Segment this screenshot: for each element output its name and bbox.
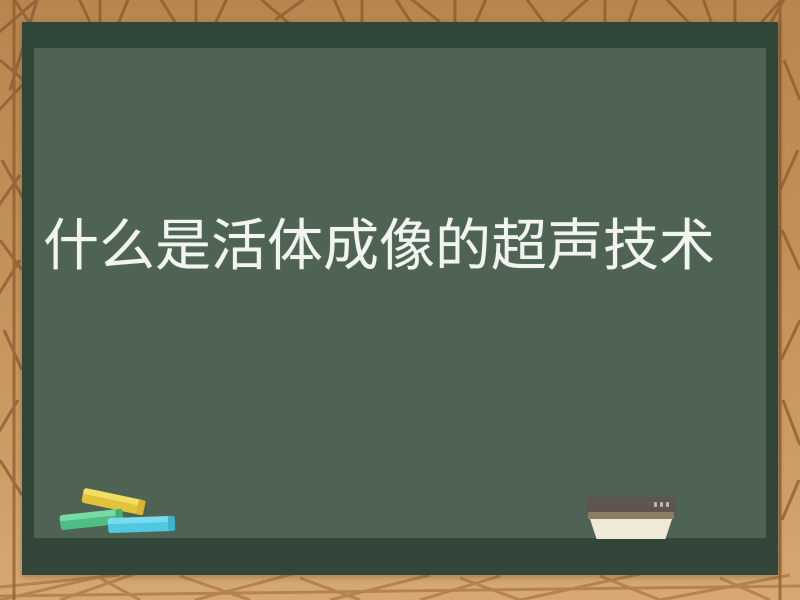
chalkboard-tray <box>22 538 778 575</box>
eraser-dot <box>666 502 669 507</box>
chalkboard-surface <box>34 48 766 538</box>
eraser-dots-icon <box>654 502 669 507</box>
yellow-chalk-end <box>136 499 146 515</box>
board-eraser[interactable] <box>586 497 676 539</box>
eraser-dot <box>660 502 663 507</box>
blue-chalk[interactable] <box>108 516 174 533</box>
eraser-felt <box>590 519 672 539</box>
chalkboard-scene: 什么是活体成像的超声技术 <box>0 0 800 600</box>
blue-chalk-end <box>168 516 176 531</box>
chalk-sticks <box>60 492 175 540</box>
eraser-band <box>588 512 674 519</box>
eraser-handle <box>586 497 676 512</box>
page-title: 什么是活体成像的超声技术 <box>43 212 733 282</box>
eraser-dot <box>654 502 657 507</box>
blue-chalk-highlight <box>108 516 174 525</box>
